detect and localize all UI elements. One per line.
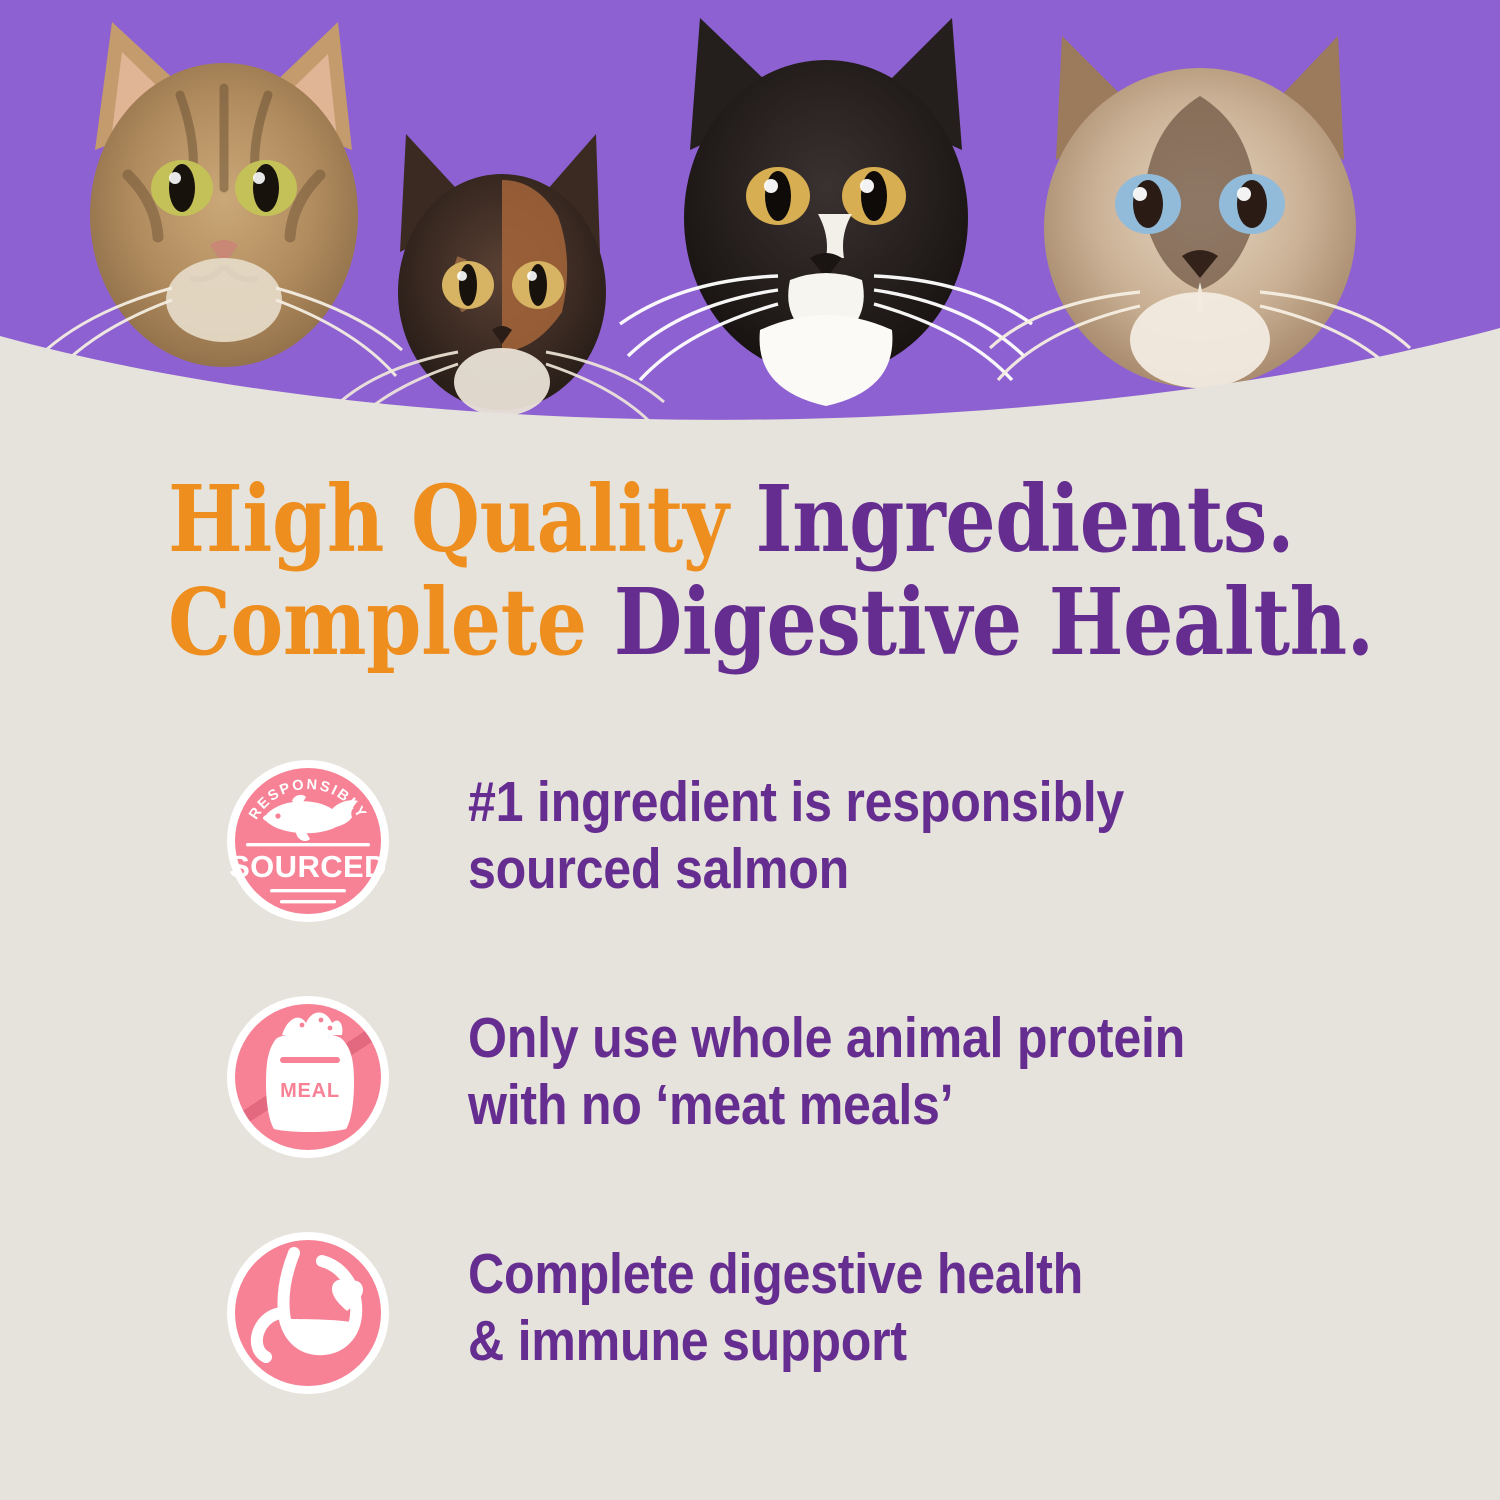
- badge-main-label: MEAL: [280, 1080, 340, 1102]
- hero-banner: [0, 0, 1500, 430]
- feature-item-digestive-health: Complete digestive health & immune suppo…: [0, 1227, 1500, 1463]
- headline-line-2-purple: Digestive Health.: [614, 568, 1374, 676]
- cat-seal-point-ragdoll: [990, 36, 1410, 388]
- responsibly-sourced-fish-badge-icon: RESPONSIBLY SOURCED: [222, 755, 394, 927]
- feature-line-2: sourced salmon: [468, 836, 1260, 903]
- stomach-heart-digestive-health-badge-icon: [222, 1227, 394, 1399]
- feature-text-digestive-health: Complete digestive health & immune suppo…: [468, 1241, 1260, 1374]
- feature-line-2: with no ‘meat meals’: [468, 1072, 1260, 1139]
- feature-text-responsibly-sourced: #1 ingredient is responsibly sourced sal…: [468, 769, 1260, 902]
- headline-line-1-purple: Ingredients.: [756, 465, 1295, 573]
- no-meat-meal-sack-badge-icon: MEAL: [222, 991, 394, 1163]
- cat-photos-group: [0, 0, 1500, 430]
- feature-line-1: Only use whole animal protein: [468, 1005, 1260, 1072]
- headline-line-2-orange: Complete: [168, 568, 614, 676]
- feature-item-no-meat-meals: MEAL Only use whole animal protein with …: [0, 991, 1500, 1227]
- feature-text-no-meat-meals: Only use whole animal protein with no ‘m…: [468, 1005, 1260, 1138]
- headline-line-1-orange: High Quality: [168, 465, 756, 573]
- cat-brown-tabby: [46, 22, 402, 376]
- feature-line-1: Complete digestive health: [468, 1241, 1260, 1308]
- promo-page: High Quality Ingredients. Complete Diges…: [0, 0, 1500, 1500]
- feature-list: RESPONSIBLY SOURCED #1 ingredient is res…: [0, 755, 1500, 1463]
- cat-tortoiseshell-kitten: [340, 134, 664, 426]
- feature-line-2: & immune support: [468, 1308, 1260, 1375]
- page-title: High Quality Ingredients. Complete Diges…: [168, 468, 1217, 674]
- badge-main-label: SOURCED: [229, 849, 387, 884]
- feature-line-1: #1 ingredient is responsibly: [468, 769, 1260, 836]
- cat-tuxedo-black-white: [620, 18, 1032, 406]
- headline-line-1: High Quality Ingredients.: [168, 468, 1217, 571]
- headline-line-2: Complete Digestive Health.: [168, 571, 1217, 674]
- feature-item-responsibly-sourced: RESPONSIBLY SOURCED #1 ingredient is res…: [0, 755, 1500, 991]
